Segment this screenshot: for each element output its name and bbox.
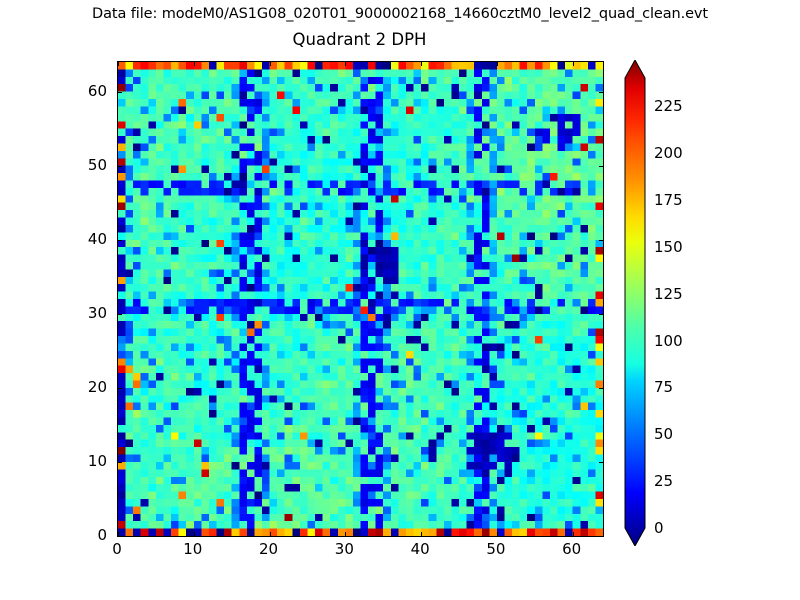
y-axis-tick-label: 20 [55, 378, 107, 396]
y-axis-tick [118, 92, 122, 93]
x-axis-tick [421, 532, 422, 536]
y-axis-tick-label: 60 [55, 82, 107, 100]
colorbar-tick-label: 75 [654, 378, 673, 396]
x-axis-tick [270, 532, 271, 536]
y-axis-tick-right [599, 462, 603, 463]
y-axis-tick-label: 40 [55, 230, 107, 248]
x-axis-tick [194, 532, 195, 536]
x-axis-tick [497, 532, 498, 536]
heatmap-axes[interactable] [117, 61, 604, 537]
x-axis-tick [345, 532, 346, 536]
y-axis-tick-right [599, 314, 603, 315]
x-axis-tick-label: 10 [183, 540, 202, 558]
y-axis-tick-right [599, 166, 603, 167]
y-axis-tick-label: 30 [55, 304, 107, 322]
y-axis-tick [118, 314, 122, 315]
data-file-suptitle: Data file: modeM0/AS1G08_020T01_90000021… [0, 6, 800, 22]
x-axis-tick-top [421, 62, 422, 66]
colorbar-tick-label: 225 [654, 97, 683, 115]
x-axis-tick-top [345, 62, 346, 66]
x-axis-tick-label: 60 [562, 540, 581, 558]
colorbar-tick-label: 200 [654, 144, 683, 162]
y-axis-tick [118, 240, 122, 241]
y-axis-tick [118, 388, 122, 389]
y-axis-tick-label: 10 [55, 452, 107, 470]
x-axis-tick-label: 0 [112, 540, 122, 558]
x-axis-tick-top [118, 62, 119, 66]
x-axis-tick-top [270, 62, 271, 66]
colorbar-gradient [624, 60, 646, 546]
x-axis-tick-top [573, 62, 574, 66]
x-axis-tick-top [194, 62, 195, 66]
colorbar-tick-label: 0 [654, 519, 664, 537]
y-axis-tick [118, 166, 122, 167]
y-axis-tick-right [599, 92, 603, 93]
y-axis-tick-right [599, 536, 603, 537]
colorbar-tick-label: 25 [654, 472, 673, 490]
y-axis-tick-right [599, 240, 603, 241]
x-axis-tick [573, 532, 574, 536]
x-axis-tick-label: 40 [411, 540, 430, 558]
y-axis-tick-label: 0 [55, 526, 107, 544]
y-axis-tick [118, 536, 122, 537]
colorbar[interactable] [624, 60, 646, 546]
y-axis-tick-label: 50 [55, 156, 107, 174]
figure-canvas: Data file: modeM0/AS1G08_020T01_90000021… [0, 0, 800, 600]
y-axis-tick-right [599, 388, 603, 389]
colorbar-tick-label: 50 [654, 425, 673, 443]
colorbar-tick-label: 175 [654, 191, 683, 209]
x-axis-tick-label: 20 [259, 540, 278, 558]
colorbar-tick-label: 150 [654, 238, 683, 256]
heatmap-image[interactable] [118, 62, 603, 536]
x-axis-tick-top [497, 62, 498, 66]
x-axis-tick-label: 30 [335, 540, 354, 558]
page-title: Quadrant 2 DPH [117, 30, 602, 49]
colorbar-tick-label: 125 [654, 285, 683, 303]
y-axis-tick [118, 462, 122, 463]
colorbar-tick-label: 100 [654, 332, 683, 350]
x-axis-tick-label: 50 [486, 540, 505, 558]
